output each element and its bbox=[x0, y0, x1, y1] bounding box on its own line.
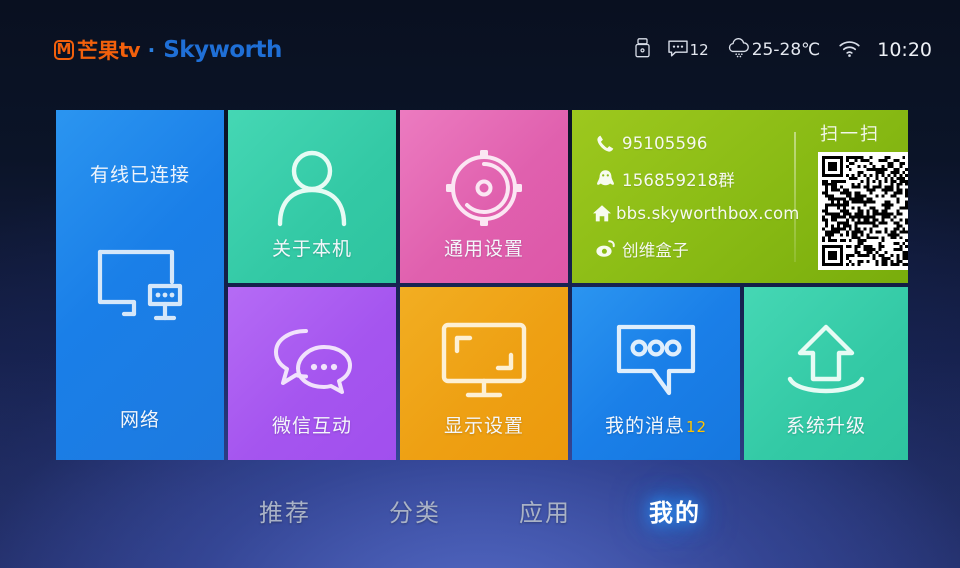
contact-website-value: bbs.skyworthbox.com bbox=[616, 204, 800, 223]
qq-penguin-icon bbox=[592, 169, 618, 189]
tile-contact-info[interactable]: 95105596 156859218群 bbox=[572, 110, 908, 283]
monitor-router-icon bbox=[94, 248, 186, 328]
tile-display-settings[interactable]: 显示设置 bbox=[400, 287, 568, 460]
clock-text: 10:20 bbox=[877, 39, 932, 61]
scan-title: 扫一扫 bbox=[818, 120, 908, 146]
tile-general-settings-label: 通用设置 bbox=[400, 234, 568, 261]
home-icon bbox=[592, 204, 612, 223]
person-icon bbox=[270, 146, 354, 228]
upload-arrow-icon bbox=[782, 319, 870, 405]
status-indicators: 12 25-28℃ bbox=[617, 38, 932, 62]
network-status-text: 有线已连接 bbox=[56, 160, 224, 187]
tv-home-screen: 芒果 tv · Skyworth bbox=[0, 0, 960, 568]
contact-qq-value: 156859218群 bbox=[622, 167, 735, 191]
nav-item-recommend[interactable]: 推荐 bbox=[220, 493, 350, 528]
tile-wechat[interactable]: 微信互动 bbox=[228, 287, 396, 460]
usb-status[interactable] bbox=[635, 38, 650, 62]
mgtv-badge-icon bbox=[54, 40, 74, 60]
message-icon bbox=[668, 40, 688, 61]
tile-system-upgrade-label: 系统升级 bbox=[744, 411, 908, 438]
contact-row-website[interactable]: bbs.skyworthbox.com bbox=[592, 196, 782, 231]
settings-dial-icon bbox=[442, 146, 526, 230]
brand-logo: 芒果 tv · Skyworth bbox=[54, 35, 282, 65]
scan-section: 扫一扫 bbox=[818, 120, 908, 270]
contact-row-weibo[interactable]: 创维盒子 bbox=[592, 231, 782, 266]
contact-row-phone[interactable]: 95105596 bbox=[592, 126, 782, 161]
tile-my-message[interactable]: 我的消息12 bbox=[572, 287, 740, 460]
message-status[interactable]: 12 bbox=[668, 40, 709, 61]
tile-network[interactable]: 有线已连接 bbox=[56, 110, 224, 460]
mgtv-logo-cn: 芒果 bbox=[77, 35, 119, 65]
usb-icon bbox=[635, 38, 650, 62]
contact-weibo-value: 创维盒子 bbox=[622, 237, 689, 261]
qr-code[interactable] bbox=[818, 152, 908, 270]
contact-phone-value: 95105596 bbox=[622, 134, 708, 153]
tile-network-label: 网络 bbox=[56, 405, 224, 432]
tile-wechat-label: 微信互动 bbox=[228, 411, 396, 438]
tile-about-label: 关于本机 bbox=[228, 234, 396, 261]
cloud-rain-icon bbox=[727, 38, 750, 62]
contact-divider bbox=[794, 132, 796, 262]
temperature-text: 25-28℃ bbox=[752, 40, 821, 60]
tile-system-upgrade[interactable]: 系统升级 bbox=[744, 287, 908, 460]
message-count: 12 bbox=[690, 41, 709, 59]
mgtv-logo-tv: tv bbox=[119, 38, 140, 62]
tile-display-settings-label: 显示设置 bbox=[400, 411, 568, 438]
tile-about[interactable]: 关于本机 bbox=[228, 110, 396, 283]
tile-general-settings[interactable]: 通用设置 bbox=[400, 110, 568, 283]
wifi-icon bbox=[838, 39, 861, 62]
skyworth-logo: Skyworth bbox=[163, 37, 282, 63]
contact-list: 95105596 156859218群 bbox=[592, 126, 782, 266]
weibo-icon bbox=[592, 239, 618, 258]
mgtv-logo: 芒果 tv bbox=[54, 35, 140, 65]
chat-bubbles-icon bbox=[266, 319, 358, 407]
bottom-navigation: 推荐 分类 应用 我的 bbox=[0, 480, 960, 540]
tile-my-message-count: 12 bbox=[686, 418, 707, 436]
contact-row-qq[interactable]: 156859218群 bbox=[592, 161, 782, 196]
weather-status[interactable]: 25-28℃ bbox=[727, 38, 821, 62]
phone-icon bbox=[592, 134, 618, 153]
monitor-icon bbox=[440, 321, 528, 405]
nav-item-category[interactable]: 分类 bbox=[350, 493, 480, 528]
brand-separator: · bbox=[148, 40, 156, 60]
speech-bubble-dots-icon bbox=[613, 321, 699, 401]
tile-grid: 有线已连接 bbox=[56, 110, 908, 460]
tile-my-message-text: 我的消息 bbox=[605, 415, 685, 437]
nav-item-apps[interactable]: 应用 bbox=[480, 493, 610, 528]
top-status-bar: 芒果 tv · Skyworth bbox=[0, 0, 960, 100]
tile-my-message-label: 我的消息12 bbox=[572, 411, 740, 438]
wifi-status[interactable] bbox=[838, 39, 861, 62]
nav-item-mine[interactable]: 我的 bbox=[610, 493, 740, 528]
